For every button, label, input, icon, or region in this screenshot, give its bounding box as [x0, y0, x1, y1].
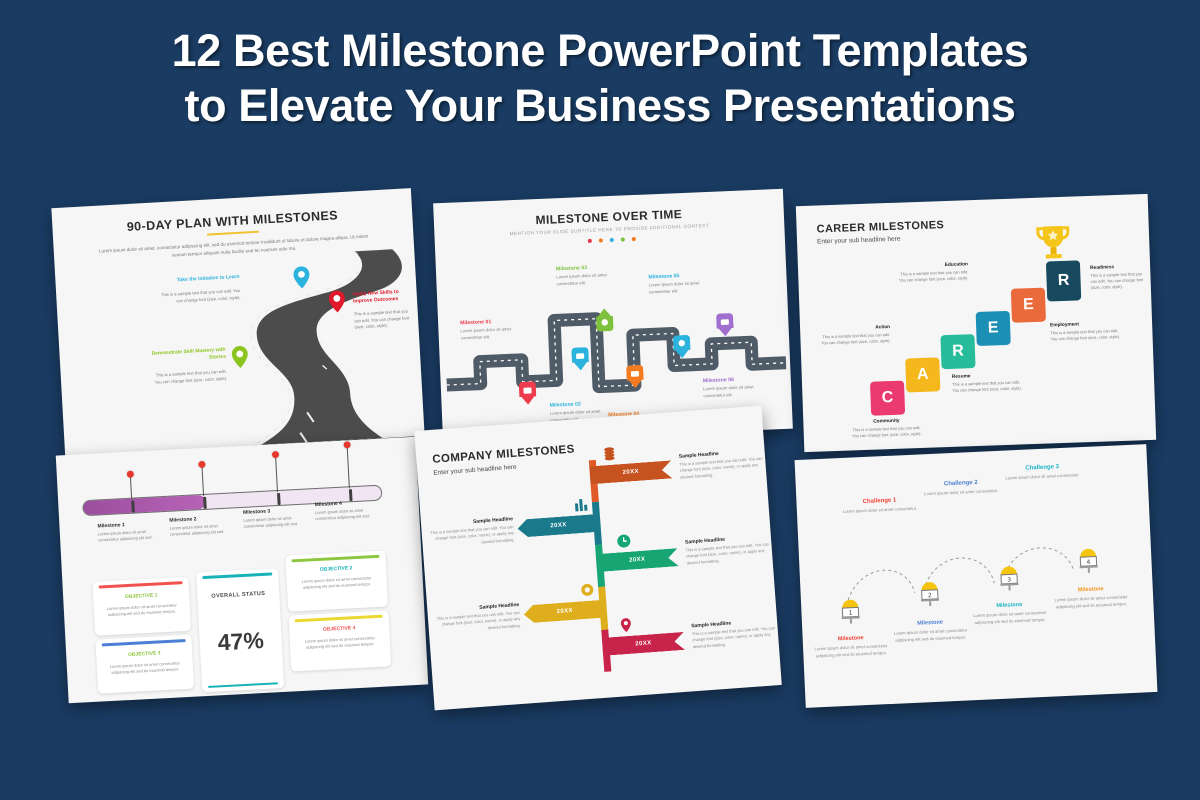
svg-text:1: 1 [848, 610, 852, 617]
milestone-text-2: This is a sample text that you can edit.… [354, 308, 413, 331]
svg-text:2: 2 [928, 592, 932, 599]
page-title-line-1: 12 Best Milestone PowerPoint Templates [172, 25, 1029, 76]
block-letter: R [952, 342, 964, 360]
milestone-text: Lorem ipsum dolor sit amet consectetur a… [170, 522, 241, 538]
slide-thumbnail-company-milestones[interactable]: COMPANY MILESTONES Enter your sub headli… [414, 406, 782, 711]
milestone-block-6: Milestone 06 Lorem ipsum dolor sit amet … [703, 375, 776, 399]
objective-label: OBJECTIVE 2 [286, 563, 386, 574]
progress-milestone-1: Milestone 1 Lorem ipsum dolor sit amet c… [97, 520, 168, 544]
milestone-pin-4[interactable] [626, 365, 644, 389]
marker-stem-4 [347, 446, 350, 488]
gear-icon [580, 582, 595, 597]
slide-title: CAREER MILESTONES [816, 219, 944, 235]
milestone-text: Lorem ipsum dolor sit amet consectetur a… [1053, 594, 1130, 611]
status-percent: 47% [199, 626, 282, 657]
timeline-entry-3: Sample Headline This is a sample text th… [685, 533, 779, 567]
career-caption-resume: Resume This is a sample text that you ca… [952, 372, 1027, 394]
career-block-e1[interactable]: E [976, 311, 1011, 346]
map-pin-1[interactable] [293, 266, 310, 289]
timeline-entry-1: Sample Headline This is a sample text th… [679, 447, 773, 481]
marker-stem-3 [275, 456, 278, 492]
timeline-ribbon-4[interactable]: 20XX [523, 600, 606, 624]
challenge-label: Challenge 1 [840, 497, 918, 507]
milestone-pin-6[interactable] [716, 313, 734, 337]
timeline-entry-4: Sample Headline This is a sample text th… [427, 602, 521, 636]
milestone-post-1[interactable]: 1 [837, 593, 864, 624]
milestone-label: Milestone [813, 634, 889, 643]
ribbon-year: 20XX [550, 522, 567, 529]
ribbon-year: 20XX [622, 469, 639, 476]
career-caption-employment: Employment This is a sample text that yo… [1050, 321, 1125, 343]
progress-tick-2 [203, 497, 207, 509]
milestone-caption-2: Milestone Lorem ipsum dolor sit amet con… [892, 618, 969, 644]
timeline-ribbon-1[interactable]: 20XX [589, 460, 672, 484]
timeline-ribbon-2[interactable]: 20XX [517, 514, 600, 538]
milestone-label: Milestone [892, 618, 968, 627]
svg-text:3: 3 [1007, 576, 1011, 583]
progress-tick-3 [277, 493, 281, 505]
entry-text: This is a sample text that you can edit.… [428, 610, 521, 636]
block-letter: R [1057, 272, 1069, 290]
challenge-block-3: Challenge 3 Lorem ipsum dolor sit amet c… [1003, 463, 1082, 482]
block-letter: C [881, 389, 893, 407]
poster-canvas: 12 Best Milestone PowerPoint Templates t… [0, 0, 1200, 800]
progress-milestone-2: Milestone 2 Lorem ipsum dolor sit amet c… [169, 514, 240, 538]
entry-text: This is a sample text that you can edit.… [685, 541, 778, 567]
clock-icon [616, 534, 631, 549]
card-accent-bottom [208, 682, 278, 688]
objective-card-2[interactable]: OBJECTIVE 2 Lorem ipsum dolor sit amet c… [285, 550, 388, 611]
challenge-block-2: Challenge 2 Lorem ipsum dolor sit amet c… [922, 479, 1001, 498]
caption-text: This is a sample text that you can edit.… [952, 379, 1026, 394]
milestone-caption-4: Milestone Lorem ipsum dolor sit amet con… [1053, 585, 1130, 611]
winding-road-graphic [54, 230, 425, 456]
ribbon-year: 20XX [556, 608, 573, 615]
milestone-text: Lorem ipsum dolor sit amet consectetur a… [892, 627, 969, 644]
career-block-e2[interactable]: E [1011, 288, 1046, 323]
block-letter: E [988, 319, 999, 337]
challenge-label: Challenge 2 [922, 479, 1000, 489]
ribbon-year: 20XX [629, 557, 646, 564]
slide-subtitle: Enter your sub headline here [433, 464, 517, 477]
marker-stem-1 [130, 476, 132, 500]
title-underline [207, 231, 259, 236]
timeline-entry-2: Sample Headline This is a sample text th… [421, 516, 515, 550]
milestone-text: Lorem ipsum dolor sit amet consectetur e… [556, 271, 628, 287]
milestone-pin-3[interactable] [596, 308, 614, 332]
milestone-caption-1: Milestone Lorem ipsum dolor sit amet con… [813, 634, 890, 660]
status-label: OVERALL STATUS [197, 590, 279, 600]
milestone-text: Lorem ipsum dolor sit amet consectetur a… [972, 610, 1049, 627]
milestone-post-4[interactable]: 4 [1075, 542, 1102, 573]
progress-tick-1 [131, 501, 135, 513]
caption-text: This is a sample text that you can edit.… [894, 269, 968, 284]
milestone-post-3[interactable]: 3 [995, 560, 1022, 591]
career-block-a[interactable]: A [905, 357, 940, 392]
entry-text: This is a sample text that you can edit.… [422, 524, 515, 550]
progress-marker-2[interactable] [198, 461, 205, 468]
card-accent [102, 639, 186, 646]
block-letter: A [917, 366, 929, 384]
milestone-post-2[interactable]: 2 [916, 576, 943, 607]
progress-bar-fill [83, 495, 206, 515]
bar-chart-icon [574, 497, 589, 512]
career-block-c[interactable]: C [870, 381, 905, 416]
card-accent [99, 581, 183, 588]
caption-label: Readiness [1090, 264, 1144, 271]
objective-card-3[interactable]: OBJECTIVE 3 Lorem ipsum dolor sit amet c… [95, 635, 194, 694]
milestone-caption-3: Milestone Lorem ipsum dolor sit amet con… [971, 601, 1048, 627]
career-caption-readiness: Readiness This is a sample text that you… [1090, 264, 1145, 291]
caption-text: This is a sample text that you can edit.… [816, 332, 890, 347]
caption-text: This is a sample text that you can edit.… [1090, 271, 1145, 291]
progress-marker-4[interactable] [343, 441, 350, 448]
challenge-label: Challenge 3 [1003, 463, 1081, 473]
milestone-text: Lorem ipsum dolor sit amet consectetur a… [315, 506, 386, 522]
milestone-pin-2[interactable] [571, 347, 589, 371]
overall-status-card[interactable]: OVERALL STATUS 47% [196, 568, 284, 692]
challenge-block-1: Challenge 1 Lorem ipsum dolor sit amet c… [840, 497, 919, 516]
career-caption-action: Action This is a sample text that you ca… [816, 325, 891, 347]
slide-thumbnail-90-day-plan[interactable]: 90-DAY PLAN WITH MILESTONES Lorem ipsum … [51, 188, 424, 456]
card-accent [292, 555, 380, 562]
page-title: 12 Best Milestone PowerPoint Templates t… [0, 24, 1200, 134]
milestone-text: Lorem ipsum dolor sit amet consectetur a… [813, 643, 890, 660]
decorative-dots [588, 237, 636, 243]
map-pin-2[interactable] [328, 290, 345, 313]
milestone-block-3: Milestone 03 Lorem ipsum dolor sit amet … [556, 263, 629, 287]
objective-text: Lorem ipsum dolor sit amet consectetur a… [295, 575, 380, 592]
timeline-entry-5: Sample Headline This is a sample text th… [691, 617, 782, 651]
career-caption-education: Education This is a sample text that you… [894, 262, 969, 284]
slide-thumbnail-challenges-milestones[interactable]: Challenge 1 Lorem ipsum dolor sit amet c… [795, 444, 1158, 708]
map-pin-3[interactable] [231, 346, 248, 369]
marker-stem-2 [202, 466, 205, 496]
progress-milestone-4: Milestone 4 Lorem ipsum dolor sit amet c… [315, 498, 386, 522]
card-accent [202, 572, 272, 578]
location-pin-icon [618, 618, 633, 633]
objective-card-1[interactable]: OBJECTIVE 1 Lorem ipsum dolor sit amet c… [92, 577, 191, 636]
objective-text: Lorem ipsum dolor sit amet consectetur a… [102, 602, 183, 619]
progress-marker-1[interactable] [127, 471, 134, 478]
milestone-text: Lorem ipsum dolor sit amet consectetur a… [98, 528, 169, 544]
slide-subtitle: Enter your sub headline here [817, 236, 901, 246]
career-block-r1[interactable]: R [940, 334, 975, 369]
progress-marker-3[interactable] [272, 451, 279, 458]
timeline-ribbon-5[interactable]: 20XX [602, 632, 685, 656]
challenge-text: Lorem ipsum dolor sit amet consectetur. [841, 506, 919, 516]
progress-milestone-3: Milestone 3 Lorem ipsum dolor sit amet c… [243, 506, 314, 530]
ribbon-year: 20XX [635, 640, 652, 647]
entry-text: This is a sample text that you can edit.… [679, 455, 772, 481]
objective-text: Lorem ipsum dolor sit amet consectetur a… [105, 660, 186, 677]
slide-thumbnail-career-milestones[interactable]: CAREER MILESTONES Enter your sub headlin… [796, 194, 1156, 452]
slide-thumbnail-milestone-over-time[interactable]: MILESTONE OVER TIME MENTION YOUR SLIDE S… [433, 189, 793, 443]
career-caption-community: Community This is a sample text that you… [849, 418, 924, 440]
entry-text: This is a sample text that you can edit.… [692, 625, 782, 651]
coins-icon [602, 446, 617, 461]
milestone-pin-1[interactable] [519, 381, 537, 405]
challenge-text: Lorem ipsum dolor sit amet consectetur. [922, 488, 1000, 498]
milestone-block-5: Milestone 05 Lorem ipsum dolor sit amet … [648, 271, 721, 295]
objective-label: OBJECTIVE 3 [96, 649, 192, 660]
objective-label: OBJECTIVE 1 [93, 591, 189, 602]
objective-card-4[interactable]: OBJECTIVE 4 Lorem ipsum dolor sit amet c… [288, 610, 391, 671]
slide-title: COMPANY MILESTONES [432, 443, 575, 465]
objective-text: Lorem ipsum dolor sit amet consectetur a… [298, 635, 383, 652]
career-block-r2[interactable]: R [1046, 260, 1081, 301]
svg-text:4: 4 [1086, 559, 1090, 566]
objective-label: OBJECTIVE 4 [289, 623, 389, 634]
page-title-line-2: to Elevate Your Business Presentations [0, 79, 1200, 134]
trophy-icon [1035, 223, 1072, 266]
slide-thumbnail-progress-objectives[interactable]: Milestone 1 Lorem ipsum dolor sit amet c… [56, 437, 428, 704]
caption-text: This is a sample text that you can edit.… [850, 425, 924, 440]
challenge-text: Lorem ipsum dolor sit amet consectetur. [1003, 472, 1081, 482]
caption-text: This is a sample text that you can edit.… [1050, 328, 1124, 343]
milestone-text: Lorem ipsum dolor sit amet consectetur a… [243, 514, 314, 530]
timeline-ribbon-3[interactable]: 20XX [596, 548, 679, 572]
card-accent [295, 615, 383, 622]
milestone-pin-5[interactable] [673, 335, 691, 359]
milestone-block-1: Milestone 01 Lorem ipsum dolor sit amet … [460, 317, 533, 341]
block-letter: E [1023, 296, 1034, 314]
